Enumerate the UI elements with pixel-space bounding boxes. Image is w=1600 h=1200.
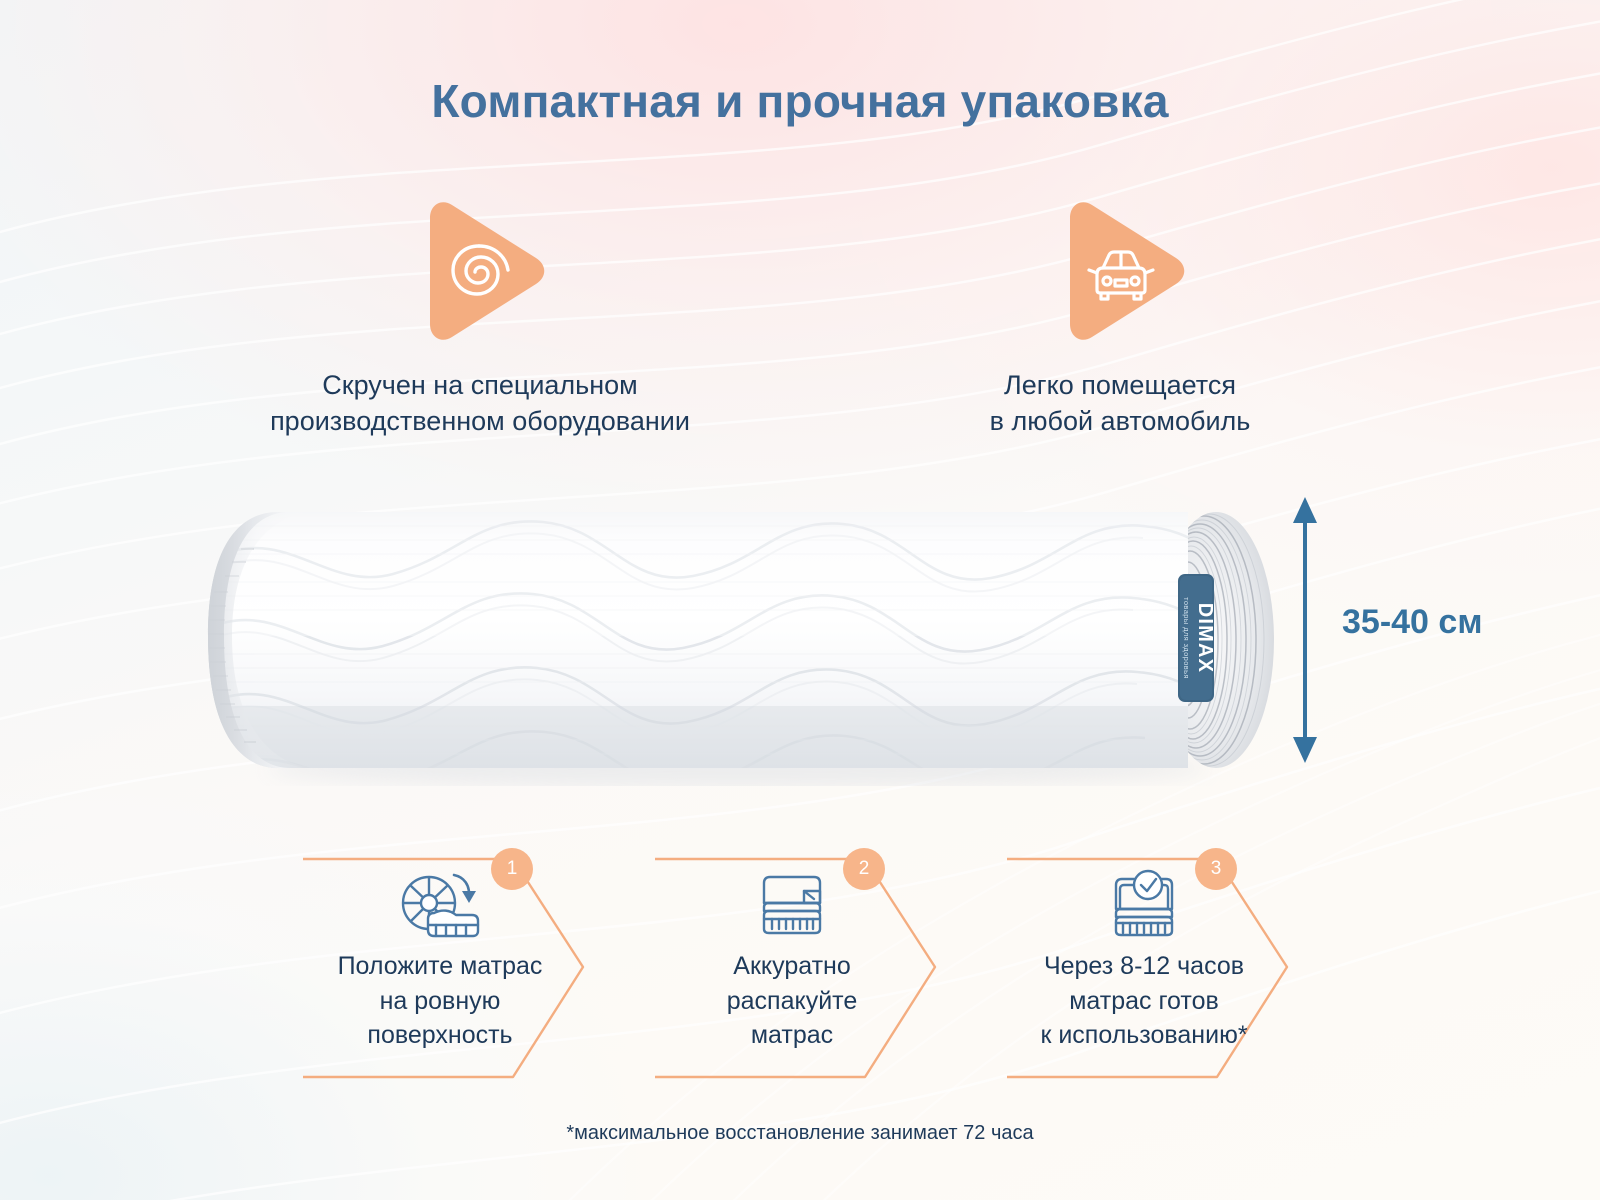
svg-text:товары для здоровья: товары для здоровья [1182,597,1191,679]
rolled-mattress-image: DIMAX товары для здоровья [178,496,1288,786]
mattress-unwrap-icon [647,869,937,948]
page-title: Компактная и прочная упаковка [0,74,1600,128]
dimension-label: 35-40 см [1342,603,1482,642]
mattress-check-icon [999,869,1289,948]
feature-label: Легко помещается в любой автомобиль [870,368,1370,440]
step-item: 3 Через 8- [999,845,1359,1090]
promo-banner: Компактная и прочная упаковка Скручен на… [0,0,1600,1200]
step-label: Через 8-12 часов матрас готов к использо… [999,949,1289,1053]
step-label: Положите матрас на ровную поверхность [295,949,585,1053]
footnote: *максимальное восстановление занимает 72… [0,1122,1600,1145]
dimension-indicator: 35-40 см [1286,495,1586,765]
feature-block-car: Легко помещается в любой автомобиль [870,196,1370,440]
step-item: 2 Аккуратн [647,845,1007,1090]
svg-text:DIMAX: DIMAX [1194,603,1216,673]
feature-block-roll: Скручен на специальном производственном … [180,196,780,440]
step-item: 1 [295,845,655,1090]
feature-label: Скручен на специальном производственном … [180,368,780,440]
spiral-roll-icon [405,196,555,346]
step-label: Аккуратно распакуйте матрас [647,949,937,1053]
steps-section: 1 [295,845,1305,1090]
rolled-mattress-unroll-icon [295,869,585,948]
car-icon [1045,196,1195,346]
brand-tag: DIMAX товары для здоровья [1178,574,1216,702]
